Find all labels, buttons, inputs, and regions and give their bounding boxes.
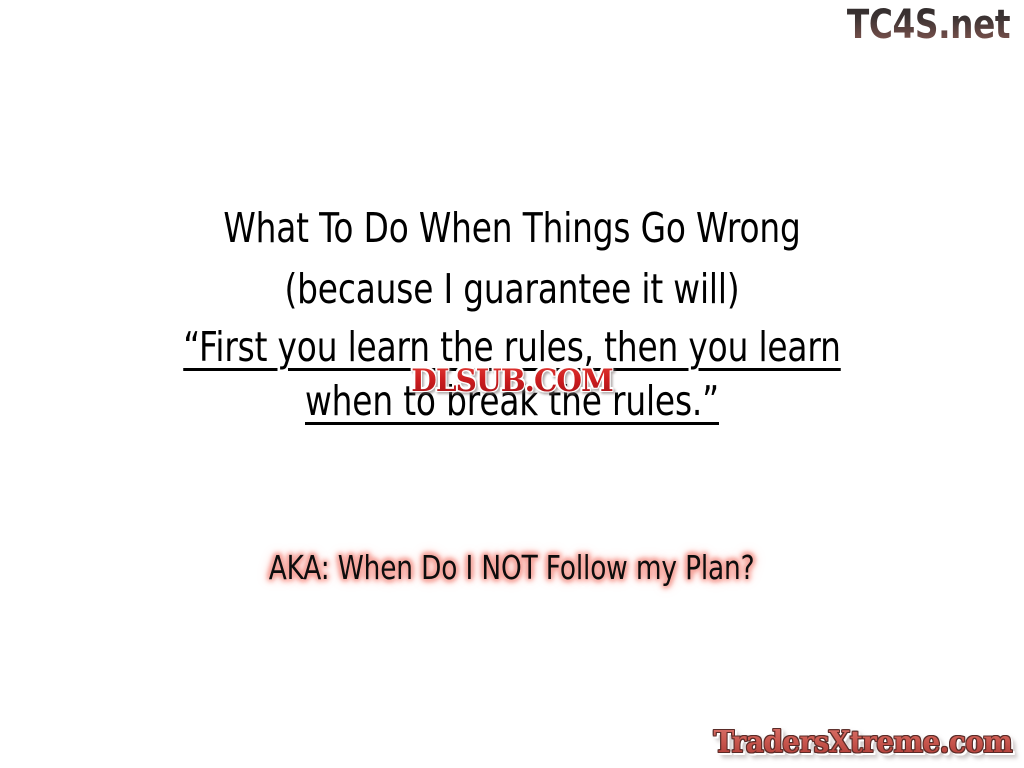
presentation-slide: TC4S.net What To Do When Things Go Wrong… — [0, 0, 1024, 768]
quote-line-2: when to break the rules.” — [102, 374, 921, 428]
slide-title-block: What To Do When Things Go Wrong (because… — [0, 198, 1024, 428]
title-line-1: What To Do When Things Go Wrong — [102, 198, 921, 259]
aka-subtitle-label: AKA: When Do I NOT Follow my Plan? — [269, 546, 755, 590]
brand-logo-tradersxtreme: TradersXtreme.com — [713, 725, 1012, 761]
aka-subtitle: AKA: When Do I NOT Follow my Plan? — [0, 546, 1024, 590]
title-line-2: (because I guarantee it will) — [102, 259, 921, 320]
brand-logo-tc4s: TC4S.net — [847, 2, 1010, 48]
quote-line-1: “First you learn the rules, then you lea… — [102, 320, 921, 374]
